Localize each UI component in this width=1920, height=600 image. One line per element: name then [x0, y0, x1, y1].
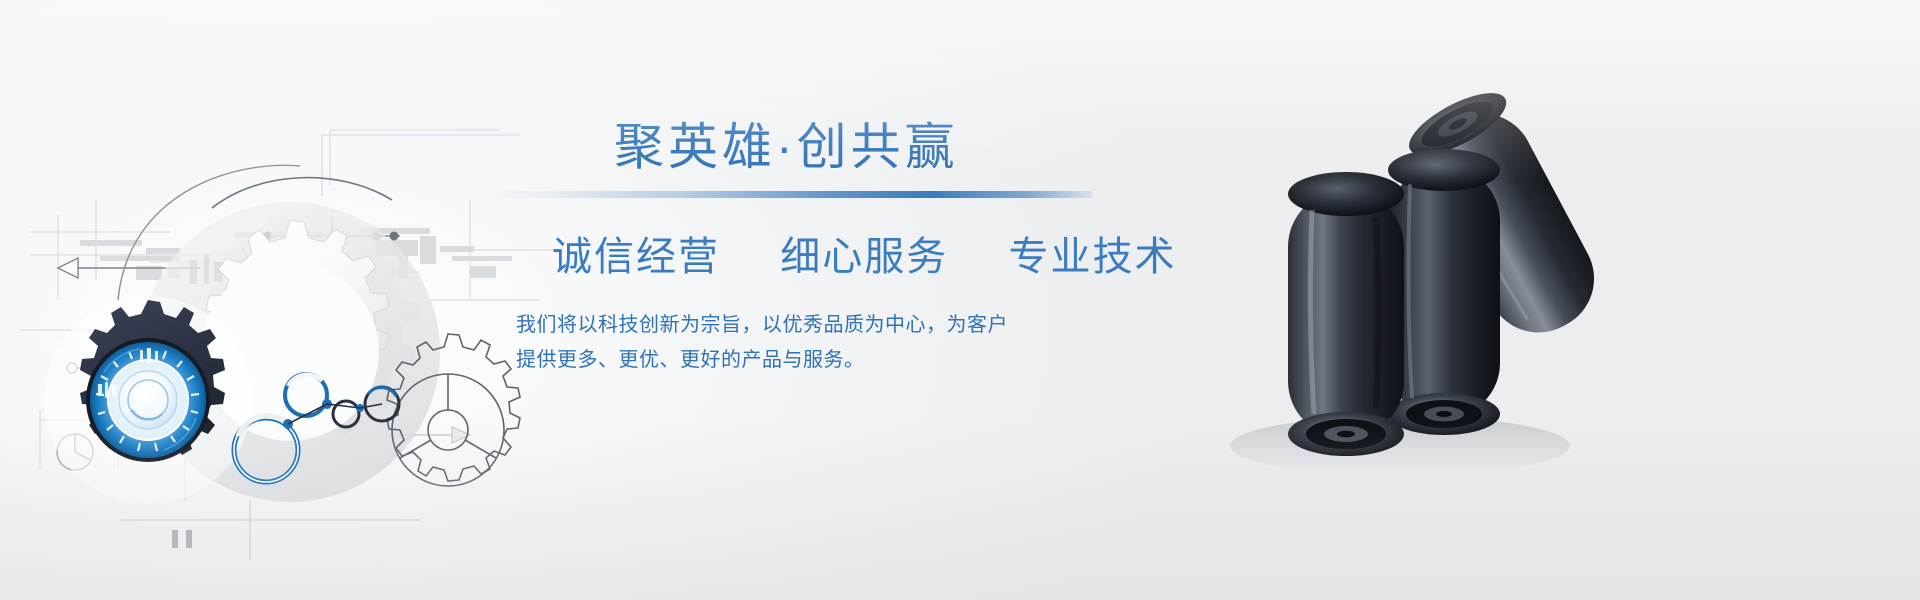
roller-front [1288, 172, 1404, 456]
gradient-divider [472, 191, 1092, 198]
roller-middle [1388, 149, 1500, 435]
slogan-row: 诚信经营 细心服务 专业技术 [552, 224, 1092, 282]
dark-tech-gear [44, 296, 252, 504]
product-image [1200, 58, 1620, 488]
bottom-ticks [172, 530, 192, 548]
slogan-item-1: 诚信经营 [552, 235, 720, 279]
slogan-item-2: 细心服务 [780, 235, 948, 279]
description-line-2: 提供更多、更优、更好的产品与服务。 [516, 343, 1092, 378]
description-text: 我们将以科技创新为宗旨，以优秀品质为中心，为客户 提供更多、更优、更好的产品与服… [516, 308, 1092, 378]
banner-copy: 聚英雄·创共赢 诚信经营 细心服务 专业技术 我们将以科技创新为宗旨，以优秀品质… [512, 118, 1092, 378]
hero-banner: 聚英雄·创共赢 诚信经营 细心服务 专业技术 我们将以科技创新为宗旨，以优秀品质… [0, 0, 1920, 600]
slogan-item-3: 专业技术 [1009, 235, 1177, 279]
page-title: 聚英雄·创共赢 [614, 118, 1092, 177]
tech-gear-illustration [0, 0, 560, 600]
description-line-1: 我们将以科技创新为宗旨，以优秀品质为中心，为客户 [516, 308, 1092, 343]
